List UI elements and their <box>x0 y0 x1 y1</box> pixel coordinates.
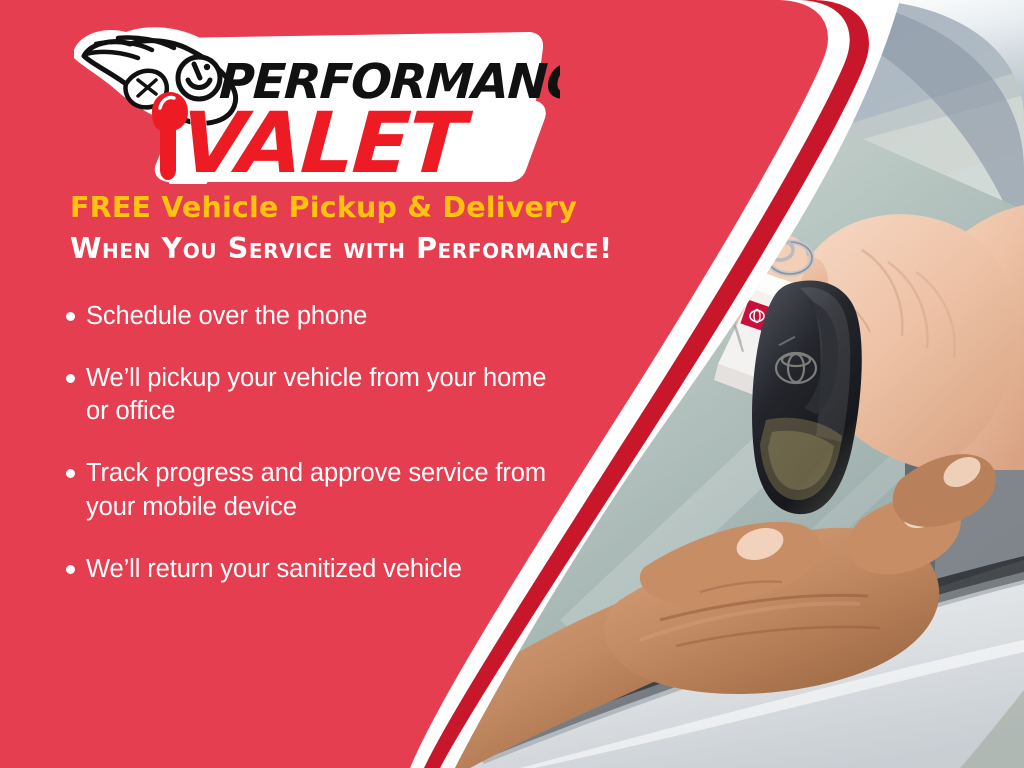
logo-valet-text: VALET <box>178 94 475 184</box>
list-item: Track progress and approve service from … <box>66 457 556 523</box>
headline-free-pickup: FREE Vehicle Pickup & Delivery <box>70 192 690 225</box>
valet-promo-banner: PERFORMANCE VALET FREE Vehicle Pickup & … <box>0 0 1024 768</box>
bullet-dot-icon <box>66 469 75 478</box>
list-item: We’ll pickup your vehicle from your home… <box>66 362 556 428</box>
bullet-dot-icon <box>66 312 75 321</box>
list-item: We’ll return your sanitized vehicle <box>66 553 556 586</box>
benefits-list: Schedule over the phone We’ll pickup you… <box>66 300 556 615</box>
list-item-label: We’ll return your sanitized vehicle <box>86 553 462 586</box>
list-item-label: Track progress and approve service from … <box>86 457 556 523</box>
performance-valet-logo: PERFORMANCE VALET <box>60 14 560 184</box>
list-item: Schedule over the phone <box>66 300 556 333</box>
bullet-dot-icon <box>66 374 75 383</box>
content-column: PERFORMANCE VALET FREE Vehicle Pickup & … <box>0 0 700 768</box>
bullet-dot-icon <box>66 565 75 574</box>
headline-when-you-service: When You Service with Performance! <box>70 233 690 266</box>
list-item-label: Schedule over the phone <box>86 300 367 333</box>
gauge-smiley-icon <box>178 57 220 99</box>
headline-block: FREE Vehicle Pickup & Delivery When You … <box>70 192 690 266</box>
list-item-label: We’ll pickup your vehicle from your home… <box>86 362 556 428</box>
